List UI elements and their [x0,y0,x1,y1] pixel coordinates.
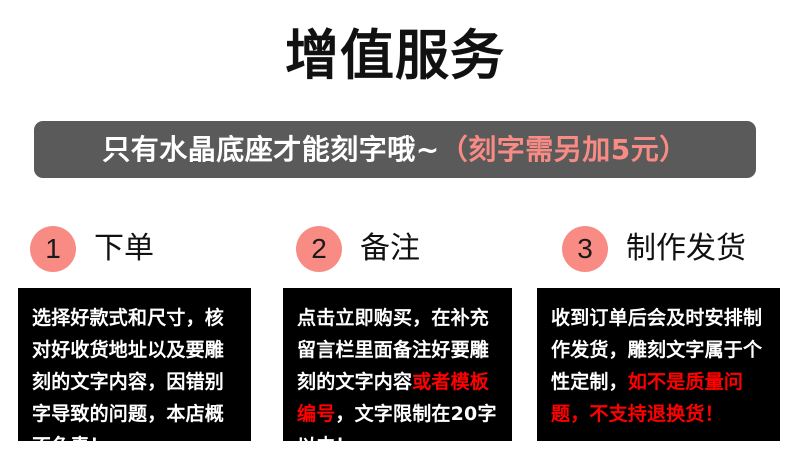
step-header-3: 3 制作发货 [562,218,746,280]
step-number-badge-3: 3 [562,226,608,272]
step-description-card-2: 点击立即购买，在补充留言栏里面备注好要雕刻的文字内容或者模板编号，文字限制在20… [283,288,512,441]
step-number-badge-1: 1 [30,226,76,272]
step-number-badge-2: 2 [296,226,342,272]
step-description-card-1: 选择好款式和尺寸，核对好收货地址以及要雕刻的文字内容，因错别字导致的问题，本店概… [18,288,251,441]
step-label-1: 下单 [94,232,154,266]
steps-row: 1 下单 2 备注 3 制作发货 [0,218,790,280]
step-label-2: 备注 [360,232,420,266]
card-text-segment: 选择好款式和尺寸，核对好收货地址以及要雕刻的文字内容，因错别字导致的问题，本店概… [32,307,224,441]
banner-main-text: 只有水晶底座才能刻字哦~ [102,134,439,166]
step-description-card-3: 收到订单后会及时安排制作发货，雕刻文字属于个性定制，如不是质量问题，不支持退换货… [537,288,780,441]
engraving-notice-banner: 只有水晶底座才能刻字哦~ （刻字需另加5元） [34,121,756,178]
step-label-3: 制作发货 [626,232,746,266]
page-title: 增值服务 [0,24,790,88]
step-header-2: 2 备注 [296,218,420,280]
banner-surcharge-text: （刻字需另加5元） [440,134,688,166]
value-added-services-graphic: 增值服务 只有水晶底座才能刻字哦~ （刻字需另加5元） 1 下单 2 备注 3 … [0,0,790,449]
step-description-cards: 选择好款式和尺寸，核对好收货地址以及要雕刻的文字内容，因错别字导致的问题，本店概… [0,288,790,442]
step-header-1: 1 下单 [30,218,154,280]
